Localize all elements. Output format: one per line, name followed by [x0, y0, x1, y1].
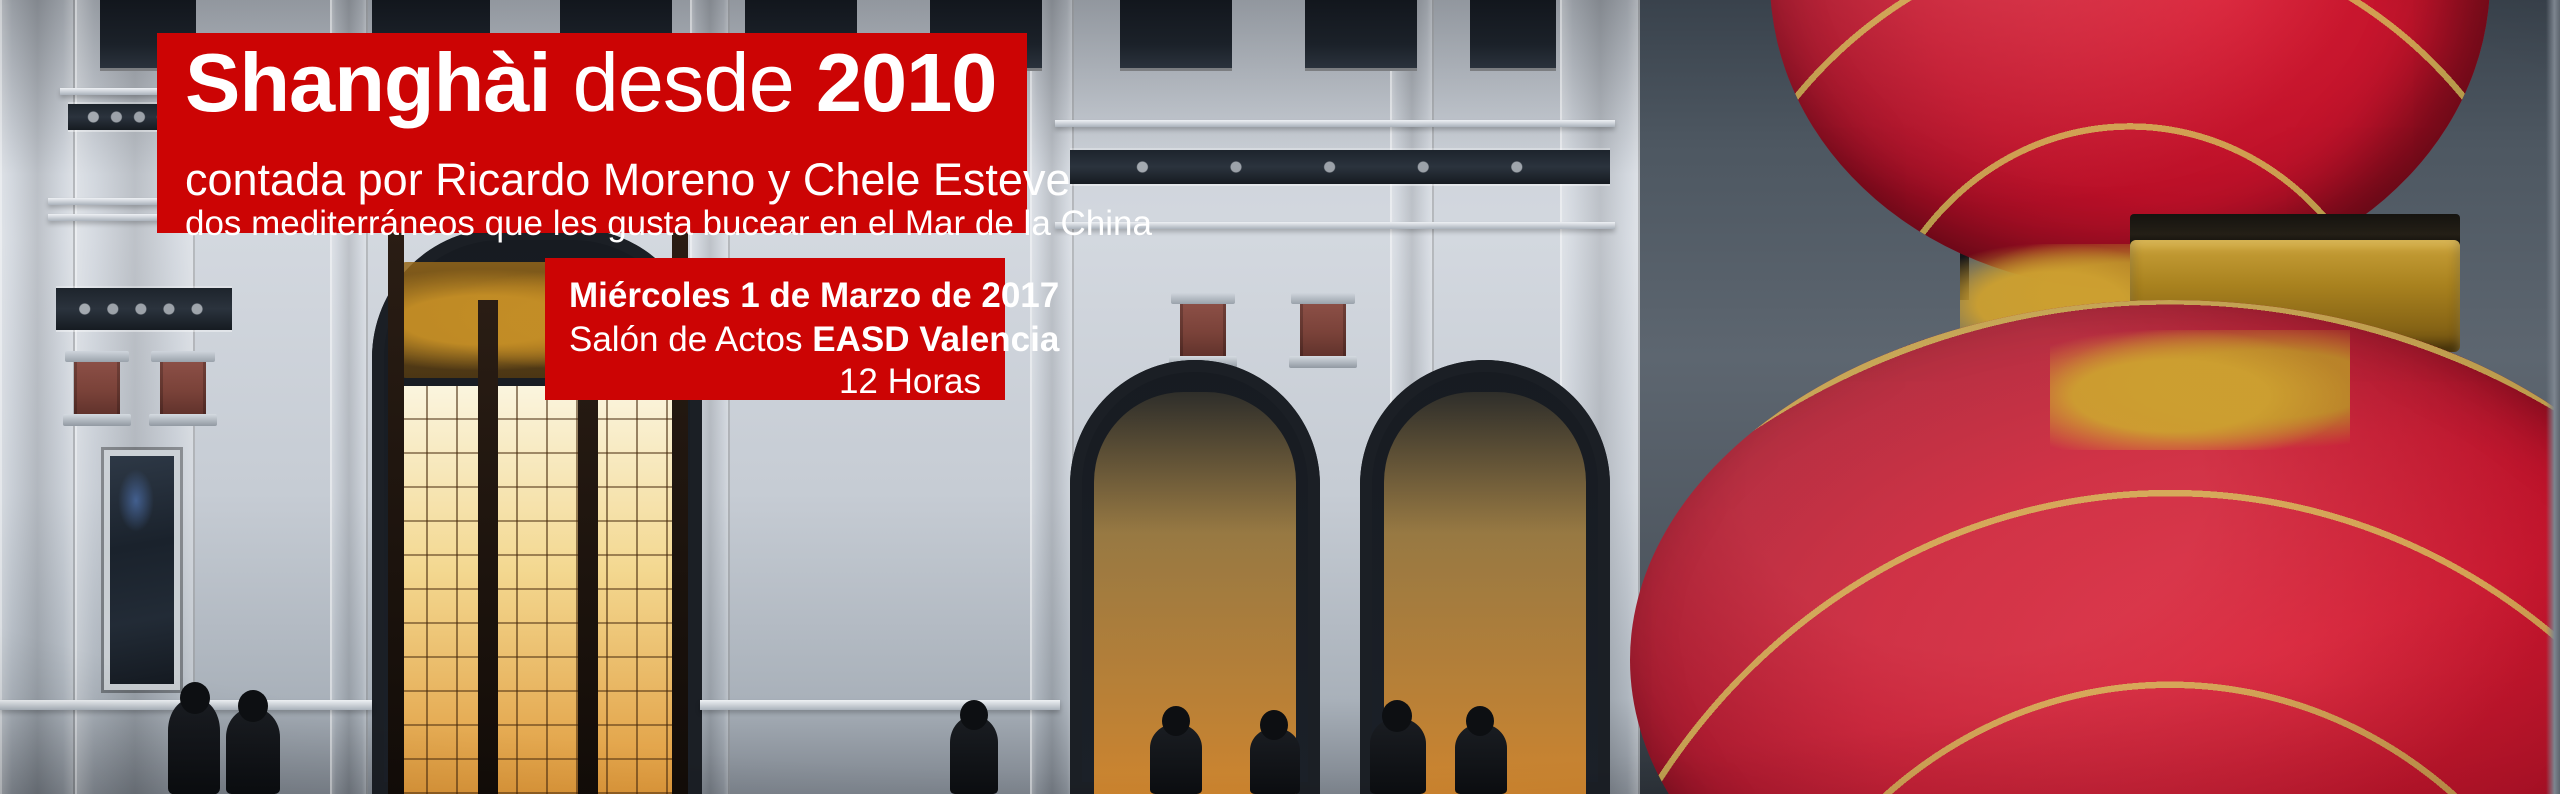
date-venue-banner: Miércoles 1 de Marzo de 2017 Salón de Ac… — [545, 258, 1005, 400]
facade-window — [1120, 0, 1232, 71]
poster-tagline: dos mediterráneos que les gusta bucear e… — [185, 206, 1152, 241]
title-banner: Shanghài desde 2010 contada por Ricardo … — [157, 33, 1027, 233]
person-head — [960, 700, 988, 730]
person-head — [1162, 706, 1190, 736]
facade-plinth — [700, 700, 1060, 710]
entrance-window-grid — [396, 386, 678, 794]
facade-bay — [0, 0, 75, 794]
person-head — [1260, 710, 1288, 740]
person-head — [238, 690, 268, 722]
door-mullion — [388, 228, 404, 794]
facade-cornice — [1055, 120, 1615, 127]
person-head — [1466, 706, 1494, 736]
venue-prefix: Salón de Actos — [569, 320, 812, 359]
person-head — [1382, 700, 1412, 732]
door-mullion — [478, 300, 498, 794]
poster-byline: contada por Ricardo Moreno y Chele Estev… — [185, 157, 1070, 202]
facade-bracket — [74, 358, 120, 418]
facade-frieze — [56, 288, 232, 330]
photo-right-edge — [2546, 0, 2560, 794]
event-venue: Salón de Actos EASD Valencia — [569, 322, 981, 357]
facade-window — [1305, 0, 1417, 71]
event-time: 12 Horas — [569, 364, 981, 399]
facade-bracket — [1300, 300, 1346, 360]
facade-window — [1470, 0, 1556, 71]
title-connector: desde — [551, 36, 816, 129]
title-city: Shanghài — [185, 36, 551, 129]
lantern-gold-leaf — [2050, 330, 2350, 450]
event-date: Miércoles 1 de Marzo de 2017 — [569, 278, 981, 313]
facade-bracket — [1180, 300, 1226, 360]
person-head — [180, 682, 210, 714]
event-poster: Shanghài desde 2010 contada por Ricardo … — [0, 0, 2560, 794]
facade-bracket — [160, 358, 206, 418]
facade-frieze — [1070, 150, 1610, 184]
facade-panel — [104, 450, 180, 690]
title-year: 2010 — [816, 36, 997, 129]
venue-name: EASD Valencia — [812, 320, 1059, 359]
poster-title: Shanghài desde 2010 — [185, 41, 996, 124]
